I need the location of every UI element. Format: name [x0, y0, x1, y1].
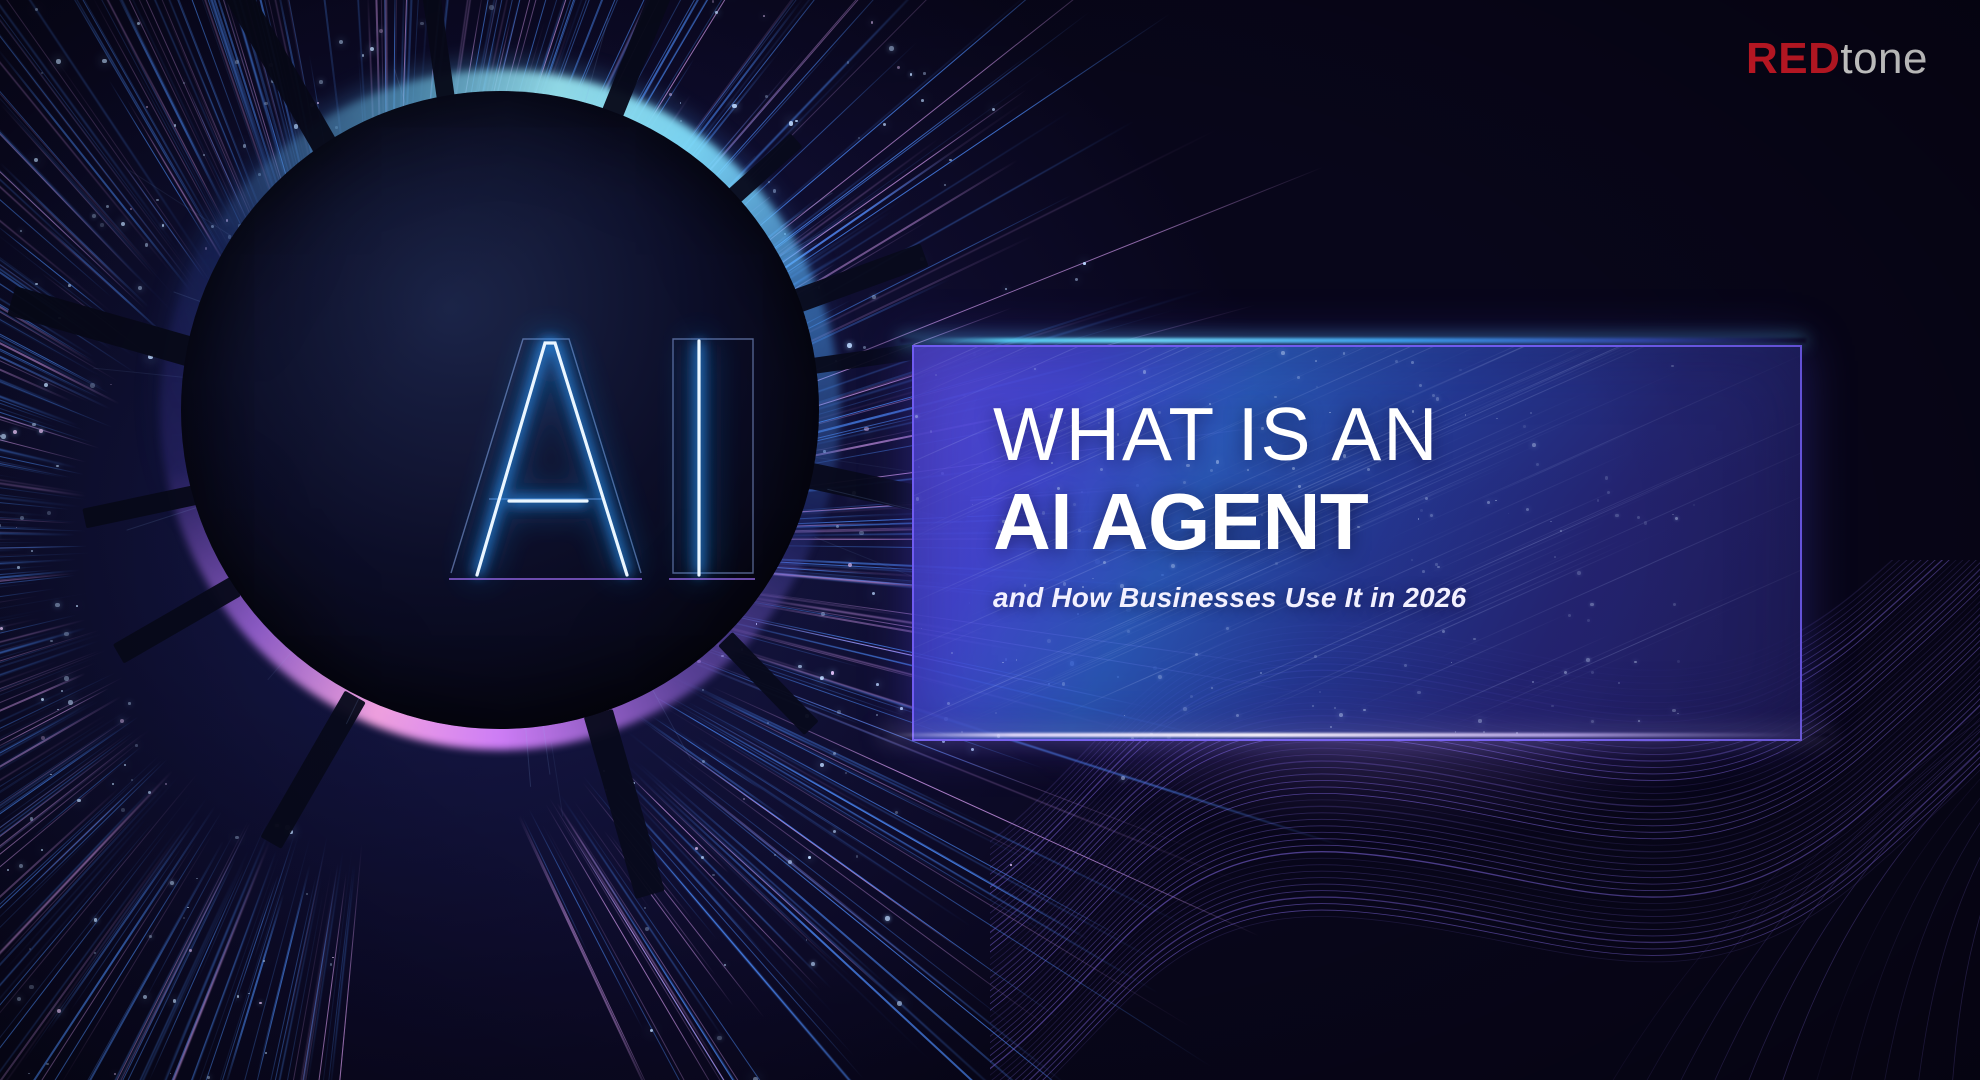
poster-canvas: WHAT IS AN AI AGENT and How Businesses U… [0, 0, 1980, 1080]
ai-neon-letters [437, 323, 777, 585]
ai-orb [55, 0, 955, 965]
headline-subtitle: and How Businesses Use It in 2026 [993, 582, 1466, 614]
redtone-logo: REDtone [1746, 34, 1928, 84]
logo-red-text: RED [1746, 34, 1840, 83]
panel-top-light-beam [900, 338, 1806, 343]
headline-text-block: WHAT IS AN AI AGENT and How Businesses U… [915, 348, 1466, 614]
headline-panel: WHAT IS AN AI AGENT and How Businesses U… [912, 345, 1802, 741]
headline-line1: WHAT IS AN [993, 398, 1466, 472]
headline-line2: AI AGENT [993, 482, 1466, 562]
panel-bottom-light-beam [880, 733, 1830, 737]
logo-tone-text: tone [1840, 34, 1928, 83]
